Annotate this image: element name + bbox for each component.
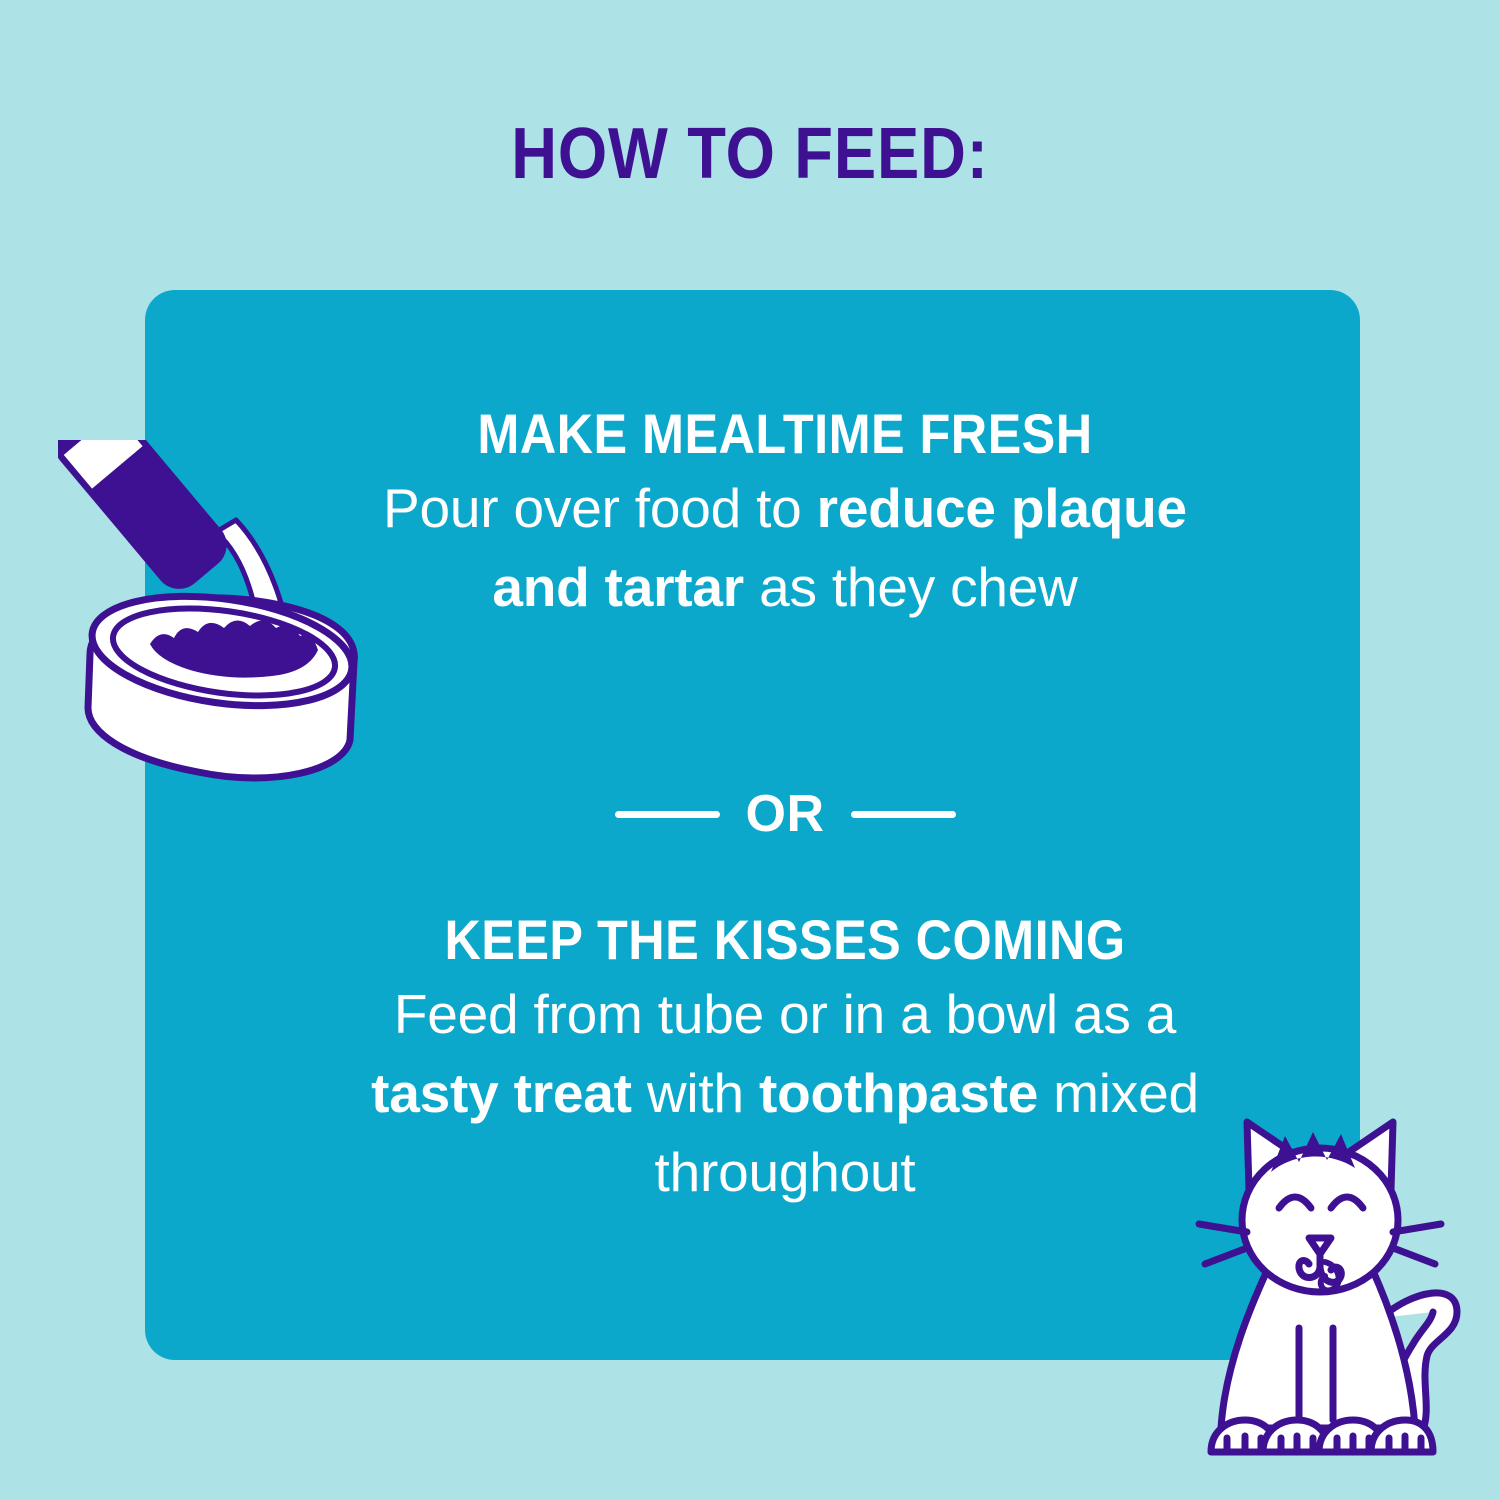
toothpaste-tube-pouring-into-bowl-icon bbox=[58, 440, 398, 820]
infographic-canvas: HOW TO FEED: MAKE MEALTIME FRESH Pour ov… bbox=[0, 0, 1500, 1500]
instruction-block-keep-the-kisses-coming: KEEP THE KISSES COMING Feed from tube or… bbox=[345, 910, 1225, 1211]
body-segment-bold: tasty treat bbox=[371, 1062, 632, 1124]
block-body-keep-the-kisses-coming: Feed from tube or in a bowl as a tasty t… bbox=[345, 975, 1225, 1211]
or-label: OR bbox=[746, 788, 825, 840]
instruction-block-make-mealtime-fresh: MAKE MEALTIME FRESH Pour over food to re… bbox=[345, 404, 1225, 627]
block-heading-make-mealtime-fresh: MAKE MEALTIME FRESH bbox=[389, 404, 1181, 463]
block-body-make-mealtime-fresh: Pour over food to reduce plaque and tart… bbox=[345, 469, 1225, 626]
bowl bbox=[85, 581, 359, 778]
body-segment-plain: as they chew bbox=[744, 556, 1078, 618]
smiling-cat-icon bbox=[1185, 1090, 1475, 1490]
or-divider: OR bbox=[345, 788, 1225, 840]
page-title: HOW TO FEED: bbox=[90, 118, 1410, 190]
body-segment-plain: with bbox=[632, 1062, 759, 1124]
block-heading-keep-the-kisses-coming: KEEP THE KISSES COMING bbox=[389, 910, 1181, 969]
divider-rule-left bbox=[615, 811, 720, 818]
body-segment-bold: toothpaste bbox=[759, 1062, 1038, 1124]
toothpaste-tube bbox=[58, 440, 233, 595]
body-segment-plain: Pour over food to bbox=[383, 477, 817, 539]
body-segment-plain: Feed from tube or in a bowl as a bbox=[394, 983, 1176, 1045]
divider-rule-right bbox=[851, 811, 956, 818]
